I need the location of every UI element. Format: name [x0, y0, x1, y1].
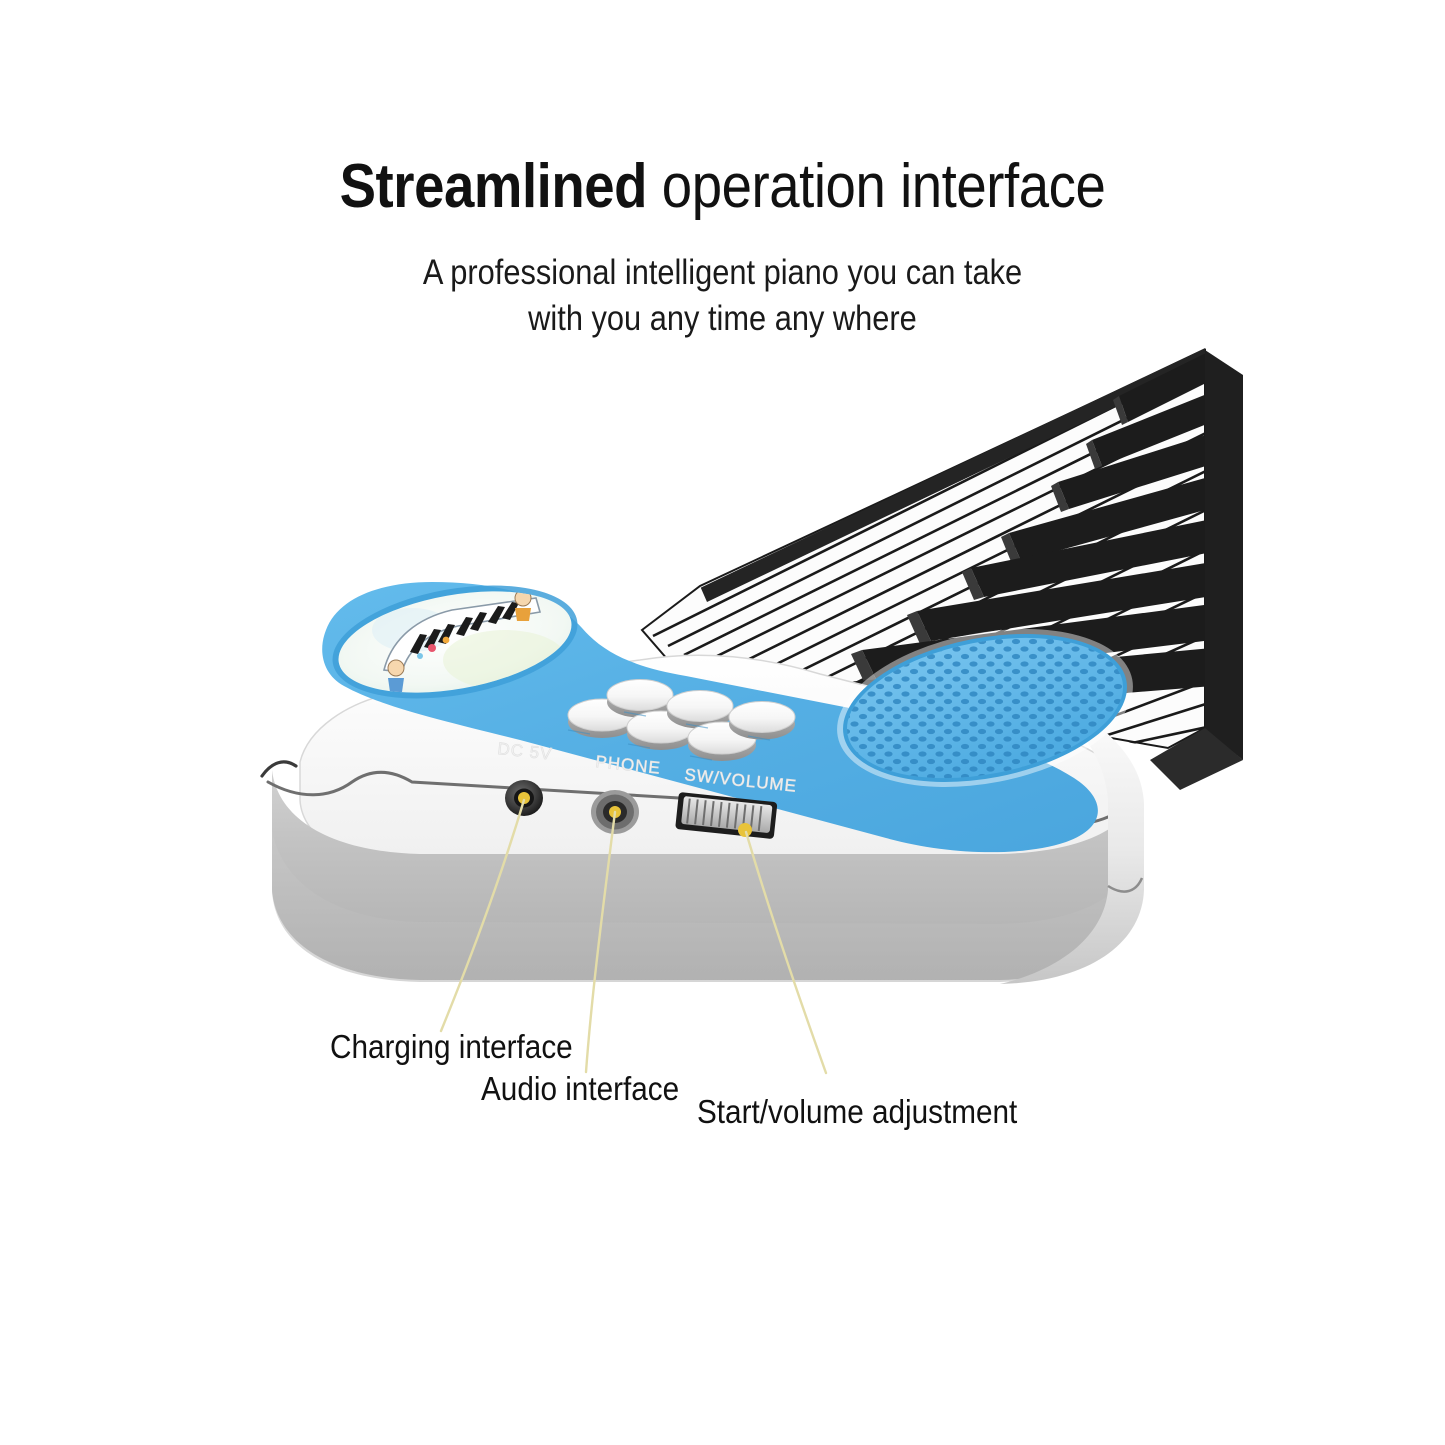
page-subtitle-line-1: A professional intelligent piano you can…	[423, 253, 1022, 292]
body-left-tail	[262, 762, 296, 776]
audio-jack[interactable]	[591, 790, 639, 834]
page-title-rest: operation interface	[647, 152, 1105, 221]
callout-start-volume-adjustment: Start/volume adjustment	[697, 1093, 1017, 1131]
function-button[interactable]	[729, 702, 795, 740]
charging-jack[interactable]	[505, 780, 543, 816]
header-block: Streamlined operation interface A profes…	[0, 0, 1445, 342]
page-title-lead: Streamlined	[340, 152, 647, 221]
keyboard-right-edge	[1205, 350, 1243, 760]
callout-charging-interface: Charging interface	[330, 1028, 573, 1066]
callout-audio-interface: Audio interface	[481, 1070, 679, 1108]
page-title: Streamlined operation interface	[87, 0, 1359, 224]
infographic-canvas: Streamlined operation interface A profes…	[0, 0, 1445, 1445]
product-illustration: DC 5V PHONE SW/VOLUME	[0, 330, 1445, 1010]
page-subtitle: A professional intelligent piano you can…	[87, 224, 1359, 342]
slider-knob-marker	[738, 823, 752, 837]
